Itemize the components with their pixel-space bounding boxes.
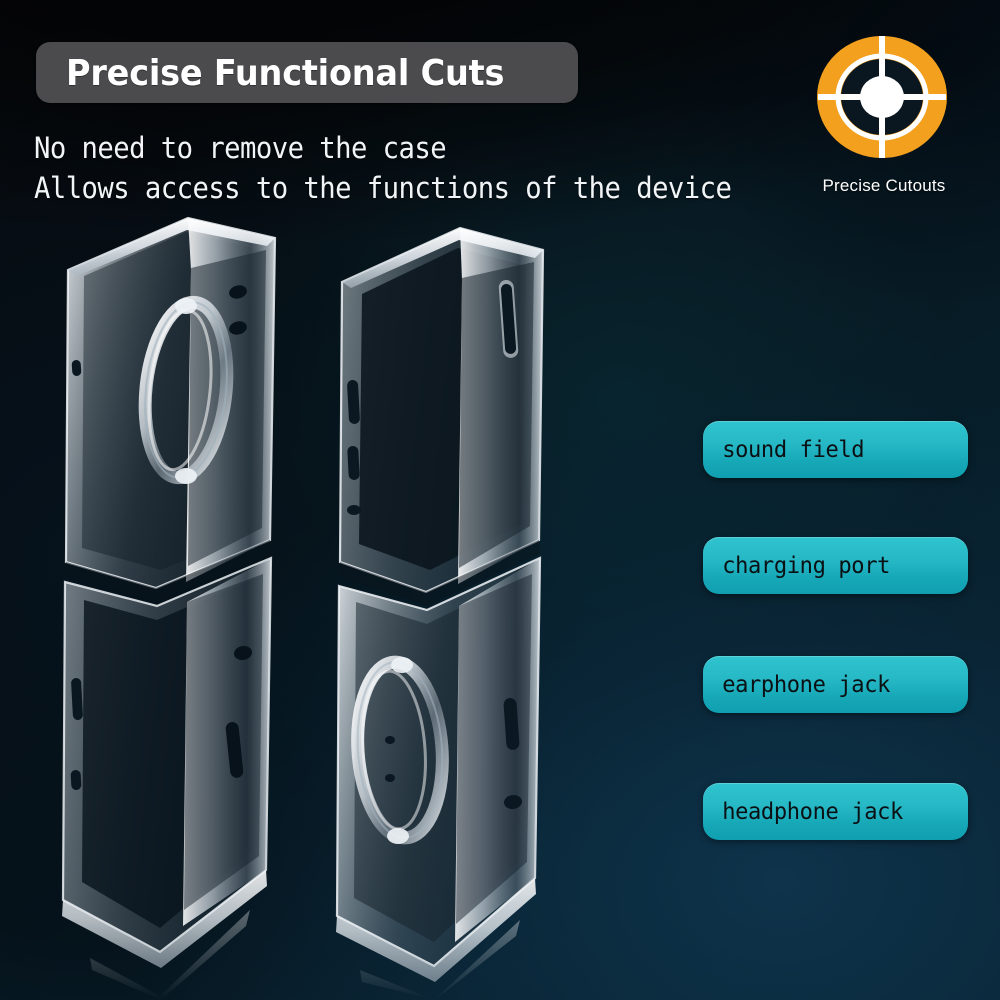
subtitle-block: No need to remove the case Allows access… bbox=[34, 128, 731, 208]
product-feature-graphic: Precise Functional Cuts No need to remov… bbox=[0, 0, 1000, 1000]
feature-badge-label: charging port bbox=[703, 553, 890, 579]
case-left bbox=[62, 218, 275, 1000]
feature-badge-earphone-jack[interactable]: earphone jack bbox=[703, 656, 968, 713]
logo-caption: Precise Cutouts bbox=[784, 176, 984, 196]
case-right bbox=[336, 228, 543, 1000]
product-photo-clear-cases bbox=[60, 210, 680, 1000]
feature-badge-label: earphone jack bbox=[703, 672, 890, 698]
feature-badge-sound-field[interactable]: sound field bbox=[703, 421, 968, 478]
feature-badge-label: headphone jack bbox=[703, 799, 903, 825]
subtitle-line-1: No need to remove the case bbox=[34, 131, 446, 165]
crosshair-target-icon bbox=[816, 36, 948, 160]
precise-cutouts-logo bbox=[816, 36, 948, 160]
feature-badge-label: sound field bbox=[703, 437, 864, 463]
feature-badge-charging-port[interactable]: charging port bbox=[703, 537, 968, 594]
page-title: Precise Functional Cuts bbox=[66, 50, 531, 98]
subtitle-line-2: Allows access to the functions of the de… bbox=[34, 168, 731, 208]
feature-badge-headphone-jack[interactable]: headphone jack bbox=[703, 783, 968, 840]
